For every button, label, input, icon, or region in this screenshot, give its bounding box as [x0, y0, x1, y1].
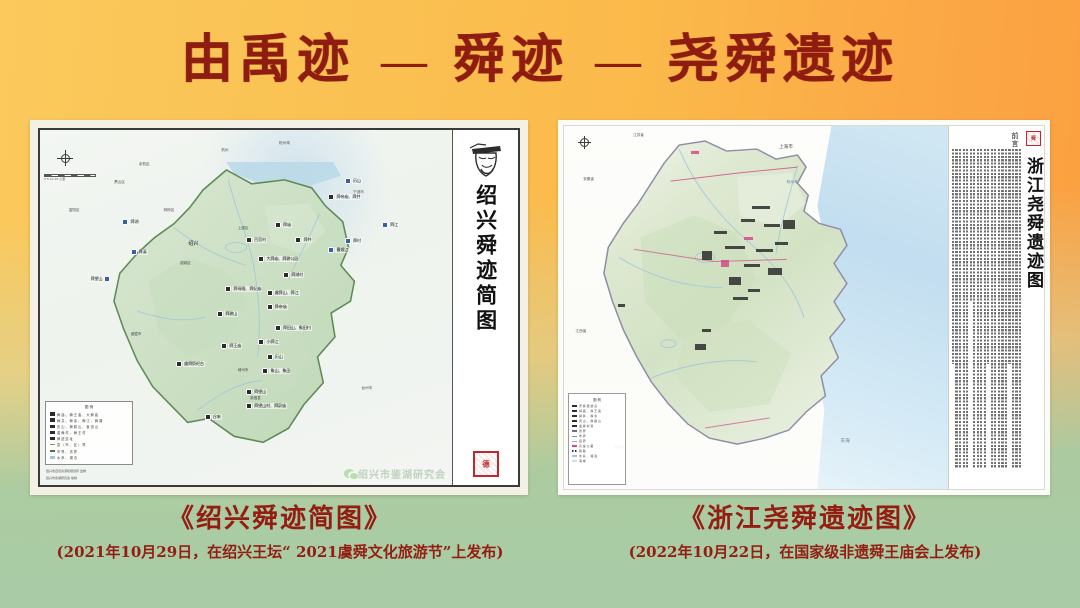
legend-row: 铁 路 [572, 449, 622, 453]
map-label-zhuji: 诸暨市 [131, 332, 142, 337]
map-cluster[interactable] [748, 289, 760, 292]
map-cluster[interactable] [733, 297, 748, 300]
poi-marker-icon [262, 368, 268, 374]
map-poi[interactable]: 舜王庙 [221, 343, 242, 349]
legend-swatch-icon [50, 431, 55, 434]
wechat-icon [344, 469, 355, 478]
map-poi[interactable]: 舜湖村 [283, 272, 304, 278]
map-label-bay: 杭州湾 [787, 180, 798, 185]
legend-row: 水 系 、 湖 泊 [50, 455, 128, 460]
map-label-anhui: 安徽省 [583, 177, 594, 182]
map-label-xiaoshan: 萧山区 [114, 180, 125, 185]
legend-row: 舜 庙 、 舜 王 庙 [572, 409, 622, 413]
legend-swatch-icon [572, 415, 577, 418]
map-poi[interactable]: 舜母殿、舜妃庙 [225, 286, 262, 292]
map-label-keqiao: 柯桥区 [164, 208, 175, 213]
poster-title-panel-right: 浙江尧舜遗迹图 前言 舜 [948, 126, 1044, 489]
legend-swatch-icon [50, 444, 55, 445]
map-poi[interactable]: 虞舜祭祀台 [176, 361, 205, 367]
poi-marker-icon [246, 403, 252, 409]
watermark: 绍兴市鉴湖研究会 [344, 466, 446, 481]
seal-stamp-left: 德 [473, 451, 499, 477]
map-cluster[interactable] [725, 246, 745, 249]
map-poi[interactable]: 舜望山 [246, 389, 267, 395]
map-poi[interactable]: 舜溪 [131, 249, 148, 255]
map-credit: 绍兴市鉴湖研究会 编制 [46, 476, 77, 480]
poi-marker-icon [205, 414, 211, 420]
map-cluster[interactable] [618, 304, 625, 307]
map-shaoxing[interactable]: 0 5 10 15 公里 [40, 130, 452, 485]
poi-marker-icon [246, 389, 252, 395]
legend-row: 虞 舜 村 、 舜 王 村 [50, 430, 128, 435]
poi-marker-icon [382, 222, 388, 228]
poi-marker-icon [104, 276, 110, 282]
caption-left: 《绍兴舜迹简图》 (2021年10月29日，在绍兴王坛“ 2021虞舜文化旅游节… [0, 502, 560, 562]
map-label-donghai: 东海 [840, 438, 849, 444]
legend-swatch-icon [50, 450, 55, 451]
map-label-shangyu: 上虞区 [238, 226, 249, 231]
map-cluster[interactable] [752, 206, 770, 209]
legend-row: 县 界 [572, 439, 622, 443]
poi-marker-icon [275, 325, 281, 331]
poi-marker-icon [267, 290, 273, 296]
poster-frame-right: 上海市 江苏省 安徽省 江西省 福建省 东海 杭州湾 图 例 尧 舜 遗 迹 点… [563, 125, 1045, 490]
map-cluster[interactable] [702, 329, 711, 332]
legend-swatch-icon [572, 436, 577, 437]
legend-swatch-icon [50, 412, 55, 415]
map-cluster[interactable] [695, 344, 706, 350]
poi-marker-icon [345, 238, 351, 244]
map-poi[interactable]: 小舜江 [258, 339, 279, 345]
legend-row: 海 域 [572, 459, 622, 463]
legend-swatch-icon [572, 455, 577, 458]
preface-block: 浙江尧舜遗迹图 前言 舜 [949, 126, 1044, 489]
legend-swatch-icon [572, 450, 577, 453]
map-label-fuyang: 富阳区 [69, 208, 80, 213]
map-zhejiang[interactable]: 上海市 江苏省 安徽省 江西省 福建省 东海 杭州湾 图 例 尧 舜 遗 迹 点… [564, 126, 948, 489]
map-cluster[interactable] [744, 237, 753, 240]
map-poi[interactable]: 象山、象田 [262, 368, 291, 374]
poi-marker-icon [345, 178, 351, 184]
map-legend: 图 例 尧 舜 遗 迹 点 舜 庙 、 舜 王 庙 舜 井 、 舜 泉 历 山 … [568, 393, 626, 485]
map-label-jiangsu: 江苏省 [633, 133, 644, 138]
map-poi[interactable]: 舜江 [382, 222, 399, 228]
map-poi[interactable]: 谷来 [205, 414, 222, 420]
legend-title: 图 例 [50, 405, 128, 410]
map-legend: 图 例 舜 庙 、 舜 王 庙 、 大 舜 庙 舜 井 、 舜 泉 、 舜 江 … [45, 401, 133, 466]
legend-row: 舜 井 、 舜 泉 [572, 414, 622, 418]
map-label-shanghai: 上海市 [779, 144, 793, 150]
map-cluster[interactable] [768, 268, 782, 275]
seal-text: 德 [482, 460, 488, 467]
legend-row: 县 （ 市 、 区 ） 界 [50, 442, 128, 447]
caption-right-subtitle: (2022年10月22日，在国家级非遗舜王庙会上发布) [530, 542, 1080, 562]
map-poi[interactable]: 舜田山、象田村 [275, 325, 312, 331]
map-cluster[interactable] [729, 277, 741, 285]
legend-row: 舜 迹 遗 址 [50, 436, 128, 441]
legend-row: 省 界 [572, 429, 622, 433]
map-cluster[interactable] [775, 242, 788, 245]
map-poi[interactable]: 舜湖 [122, 219, 139, 225]
map-poi[interactable]: 舜帝庙、舜井 [328, 194, 361, 200]
poi-marker-icon [258, 256, 264, 262]
poi-marker-icon [246, 237, 252, 243]
map-poi[interactable]: 舜望山 [89, 276, 110, 282]
preface-text-columns [952, 149, 1021, 489]
poster-title-left: 绍兴舜迹简图 [474, 184, 496, 451]
map-label-yuecheng: 越城区 [180, 261, 191, 266]
poi-marker-icon [328, 194, 334, 200]
map-cluster[interactable] [691, 151, 699, 154]
caption-right: 《浙江尧舜遗迹图》 (2022年10月22日，在国家级非遗舜王庙会上发布) [530, 502, 1080, 562]
legend-row: 市 界 、 省 界 [50, 449, 128, 454]
poi-marker-icon [221, 343, 227, 349]
map-poi[interactable]: 舜耕山 [217, 311, 238, 317]
map-cluster[interactable] [741, 219, 755, 222]
poster-zhejiang[interactable]: 上海市 江苏省 安徽省 江西省 福建省 东海 杭州湾 图 例 尧 舜 遗 迹 点… [558, 120, 1050, 495]
map-label-yuhang: 余杭区 [139, 162, 150, 167]
legend-swatch-icon [572, 410, 577, 413]
map-label-xinchang: 新昌县 [250, 396, 261, 401]
poi-marker-icon [258, 339, 264, 345]
legend-swatch-icon [572, 430, 577, 431]
legend-swatch-icon [572, 441, 577, 442]
map-poi[interactable]: 舜庙 [275, 222, 292, 228]
map-cluster[interactable] [744, 264, 760, 267]
legend-row: 市 界 [572, 434, 622, 438]
legend-swatch-icon [50, 456, 55, 459]
map-poi[interactable]: 大舜庙、舜耕公园 [258, 256, 299, 262]
legend-row: 舜 井 、 舜 泉 、 舜 江 、 舜 湖 [50, 418, 128, 423]
legend-row: 尧 舜 遗 迹 点 [572, 404, 622, 408]
poster-shaoxing[interactable]: 0 5 10 15 公里 [30, 120, 528, 495]
map-poi[interactable]: 舜村 [345, 238, 362, 244]
map-label-taizhou: 台州市 [361, 386, 372, 391]
map-poi[interactable]: 舜望山村、舜泉庙 [246, 403, 287, 409]
map-cluster[interactable] [756, 249, 773, 252]
legend-swatch-icon [572, 460, 577, 463]
poi-marker-icon [217, 311, 223, 317]
legend-row: 历 山 、 舜 耕 山 [572, 419, 622, 423]
seal-text: 舜 [1031, 135, 1036, 142]
map-credit: 绍兴市自然资源和规划局 监制 [46, 469, 86, 473]
map-poi[interactable]: 舜帝庙 [267, 304, 288, 310]
poster-title-right: 浙江尧舜遗迹图 [1023, 157, 1041, 290]
map-poi[interactable]: 虞舜山、舜江 [267, 290, 300, 296]
seal-stamp-right: 舜 [1026, 131, 1041, 146]
map-poi[interactable]: 曹娥江 [328, 247, 349, 253]
preface-heading: 前言 [1010, 132, 1020, 148]
legend-row: 高 速 公 路 [572, 444, 622, 448]
map-cluster[interactable] [783, 220, 795, 229]
poster-frame-left: 0 5 10 15 公里 [38, 128, 520, 487]
poi-marker-icon [176, 361, 182, 367]
poi-marker-icon [225, 286, 231, 292]
map-cluster[interactable] [721, 260, 729, 267]
legend-title: 图 例 [572, 397, 622, 402]
map-poi[interactable]: 百官村 [246, 237, 267, 243]
legend-swatch-icon [572, 405, 577, 408]
map-cluster[interactable] [702, 251, 712, 260]
map-poi[interactable]: 历山 [345, 178, 362, 184]
map-poi[interactable]: 历山 [267, 354, 284, 360]
legend-swatch-icon [572, 425, 577, 428]
legend-swatch-icon [572, 445, 577, 448]
map-label-city: 杭州 [221, 148, 228, 153]
poi-marker-icon [283, 272, 289, 278]
map-poi[interactable]: 舜井 [295, 237, 312, 243]
caption-left-subtitle: (2021年10月29日，在绍兴王坛“ 2021虞舜文化旅游节”上发布) [0, 542, 560, 562]
poi-marker-icon [131, 249, 137, 255]
legend-row: 虞 舜 村 落 [572, 424, 622, 428]
poster-title-panel-left: 绍兴舜迹简图 德 [452, 130, 518, 485]
poi-marker-icon [122, 219, 128, 225]
portrait-of-shun-image [464, 136, 508, 180]
legend-swatch-icon [50, 418, 55, 421]
legend-row: 舜 庙 、 舜 王 庙 、 大 舜 庙 [50, 412, 128, 417]
poi-marker-icon [267, 304, 273, 310]
poi-marker-icon [295, 237, 301, 243]
poi-marker-icon [267, 354, 273, 360]
map-label-shengzhou: 嵊州市 [238, 368, 249, 373]
legend-row: 历 山 、 舜 耕 山 、 象 田 山 [50, 424, 128, 429]
watermark-label: 绍兴市鉴湖研究会 [358, 466, 446, 481]
poi-marker-icon [275, 222, 281, 228]
map-label-shaoxing: 绍兴 [188, 240, 198, 247]
caption-right-title: 《浙江尧舜遗迹图》 [530, 502, 1080, 536]
legend-swatch-icon [572, 420, 577, 423]
caption-left-title: 《绍兴舜迹简图》 [0, 502, 560, 536]
legend-swatch-icon [50, 425, 55, 428]
compass-icon [57, 150, 73, 166]
poi-marker-icon [328, 247, 334, 253]
map-cluster[interactable] [764, 224, 780, 227]
map-cluster[interactable] [714, 231, 727, 234]
legend-row: 水 系 、 湖 泊 [572, 454, 622, 458]
map-label-jiangxi: 江西省 [576, 329, 587, 334]
legend-swatch-icon [50, 437, 55, 440]
map-label-bay: 杭州湾 [279, 141, 290, 146]
slide-background: 由禹迹—舜迹—尧舜遗迹 0 5 10 15 公里 [0, 0, 1080, 608]
